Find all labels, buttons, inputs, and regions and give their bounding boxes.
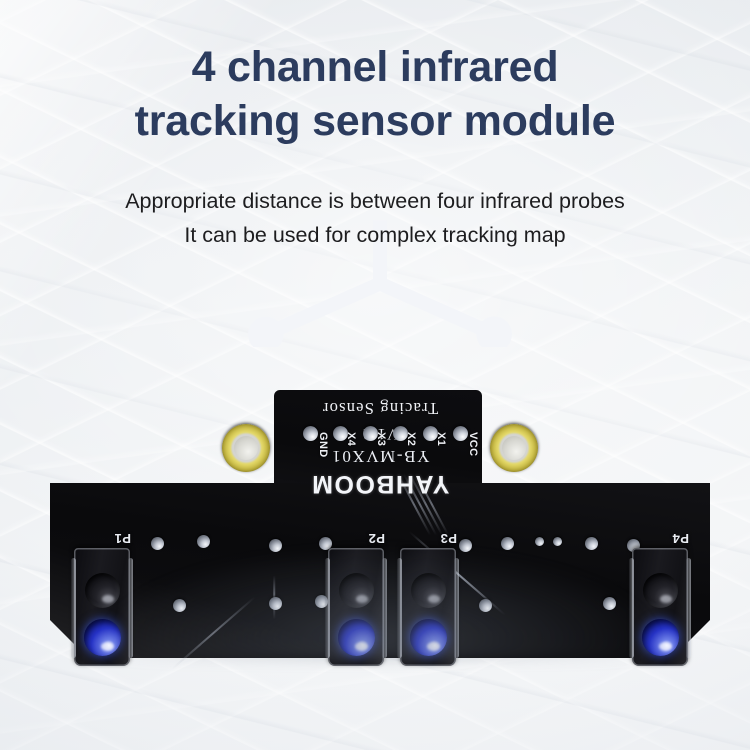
page-title-line-2: tracking sensor module — [0, 94, 750, 148]
product-banner: 4 channel infrared tracking sensor modul… — [0, 0, 750, 750]
board-drop-shadow — [44, 392, 716, 660]
subtitle-line-2: It can be used for complex tracking map — [0, 218, 750, 252]
banner-subtitle: Appropriate distance is between four inf… — [0, 184, 750, 252]
page-title-line-1: 4 channel infrared — [0, 40, 750, 94]
subtitle-line-1: Appropriate distance is between four inf… — [0, 184, 750, 218]
banner-header: 4 channel infrared tracking sensor modul… — [0, 40, 750, 252]
